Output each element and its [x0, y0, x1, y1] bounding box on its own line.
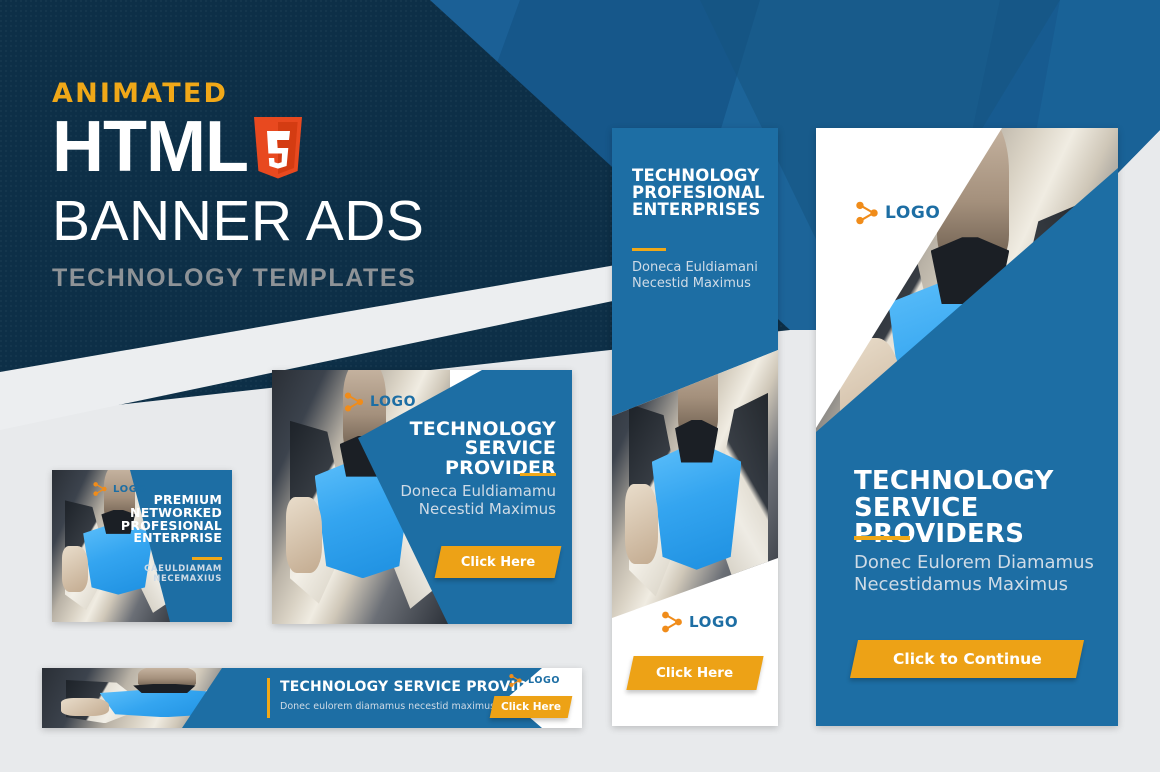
page-title: HTML [52, 113, 248, 181]
banner-headline: TECHNOLOGYSERVICE PROVIDER [356, 420, 556, 478]
logo-lockup[interactable]: LOGO [660, 610, 738, 634]
logo-text: LOGO [528, 675, 560, 686]
accent-rule [192, 557, 222, 560]
logo-lockup[interactable]: LOGO [343, 391, 416, 413]
logo-lockup[interactable]: LOGO [92, 481, 147, 497]
logo-text: LOGO [689, 613, 738, 631]
banner-subtext: Donec Eulorem DiamamusNecestidamus Maxim… [854, 552, 1114, 595]
accent-rule [520, 473, 556, 476]
cta-label: Click Here [501, 701, 561, 713]
accent-bar [267, 678, 270, 718]
cta-label: Click Here [461, 555, 535, 570]
banner-headline: TECHNOLOGYPROFESIONALENTERPRISES [632, 168, 768, 218]
cta-label: Click to Continue [893, 650, 1042, 668]
cta-button[interactable]: Click to Continue [850, 640, 1084, 678]
banner-subtext: Donec eulorem diamamus necestid maximus [280, 701, 495, 712]
logo-lockup[interactable]: LOGO [508, 673, 560, 688]
share-node-icon [508, 673, 523, 688]
half-page-banner[interactable]: LOGO TECHNOLOGYSERVICE PROVIDERS Donec E… [816, 128, 1118, 726]
cta-button[interactable]: Click Here [490, 696, 573, 718]
share-node-icon [92, 481, 108, 497]
cta-button[interactable]: Click Here [626, 656, 763, 690]
banner-subtext: Doneca EuldiamamuNecestid Maximus [336, 482, 556, 518]
header-subtitle-main: BANNER ADS [52, 192, 424, 252]
header-tagline: TECHNOLOGY TEMPLATES [52, 264, 424, 293]
banner-subtext: CAEULDIAMAMNECEMAXIUS [104, 564, 222, 584]
logo-text: LOGO [370, 394, 416, 410]
share-node-icon [854, 200, 880, 226]
skyscraper-banner[interactable]: TECHNOLOGYPROFESIONALENTERPRISES Doneca … [612, 128, 778, 726]
accent-rule [632, 248, 666, 251]
banner-headline: PREMIUMNETWORKEDPROFESIONALENTERPRISE [104, 494, 222, 545]
banner-subtext: Doneca EuldiamaniNecestid Maximus [632, 260, 772, 291]
logo-text: LOGO [113, 484, 147, 495]
share-node-icon [660, 610, 684, 634]
share-node-icon [343, 391, 365, 413]
header-kicker: ANIMATED [52, 78, 424, 109]
logo-text: LOGO [885, 203, 940, 223]
html5-logo-icon [250, 115, 306, 186]
medium-rectangle-banner[interactable]: TECHNOLOGYSERVICE PROVIDER Doneca Euldia… [272, 370, 572, 624]
cta-label: Click Here [656, 665, 733, 681]
leaderboard-banner[interactable]: TECHNOLOGY SERVICE PROVIDER Donec eulore… [42, 668, 582, 728]
header-title-row: HTML [52, 113, 424, 186]
poster-canvas: ANIMATED HTML BANNER ADS TECHNOLOGY TEMP… [0, 0, 1160, 772]
logo-lockup[interactable]: LOGO [854, 200, 940, 226]
cta-button[interactable]: Click Here [435, 546, 562, 578]
poster-header: ANIMATED HTML BANNER ADS TECHNOLOGY TEMP… [52, 78, 424, 293]
accent-rule [854, 536, 910, 540]
